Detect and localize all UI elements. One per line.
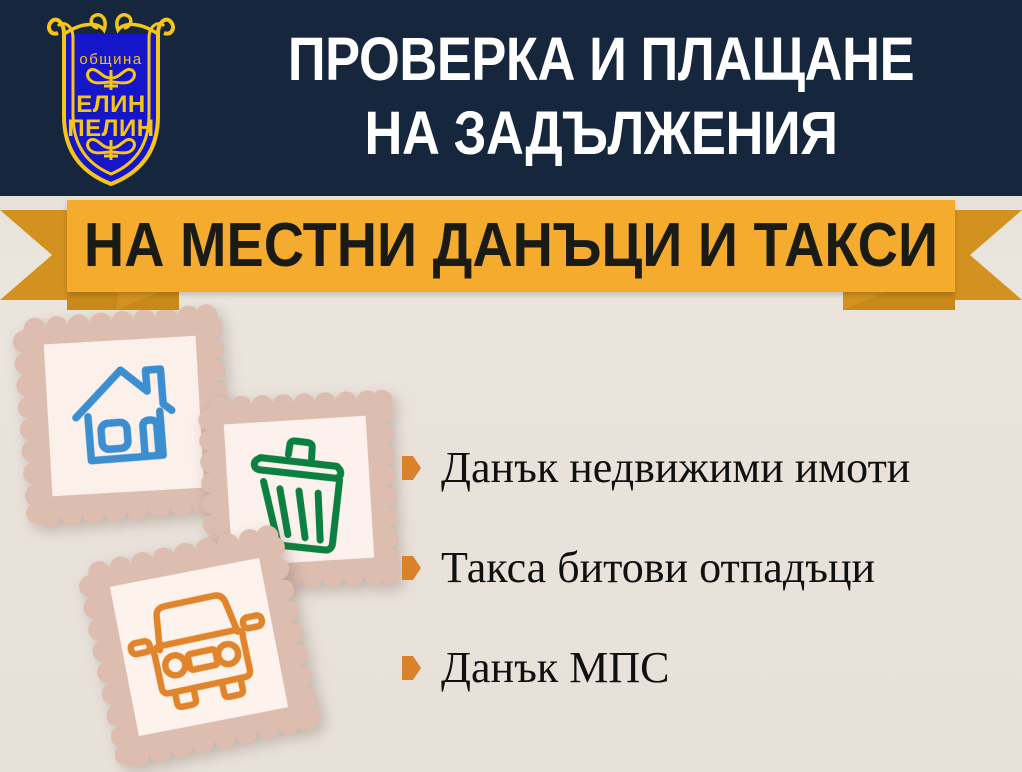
crest-line-pelin: ПЕЛИН [67,115,154,142]
crest-line-obshtina: община [79,51,142,68]
page-title-line-1: ПРОВЕРКА И ПЛАЩАНЕ [248,22,955,96]
arrow-bullet-icon [402,656,421,680]
ribbon-label: НА МЕСТНИ ДАНЪЦИ И ТАКСИ [111,200,910,292]
municipality-crest-logo: община ЕЛИН ПЕЛИН [42,8,180,188]
list-item[interactable]: Данък недвижими имоти [402,418,1012,518]
crest-line-elin: ЕЛИН [76,91,145,118]
list-item-label: Такса битови отпадъци [441,544,875,592]
stamp-card-car [72,520,326,772]
list-item[interactable]: Данък МПС [402,618,1012,718]
list-item-label: Данък МПС [441,644,669,692]
arrow-bullet-icon [402,556,421,580]
poster-root: община ЕЛИН ПЕЛИН ПРОВЕРКА И ПЛАЩАНЕ НА … [0,0,1022,772]
list-item[interactable]: Такса битови отпадъци [402,518,1012,618]
coat-of-arms-shield-icon: община ЕЛИН ПЕЛИН [42,8,180,188]
tax-type-list: Данък недвижими имоти Такса битови отпад… [402,418,1012,718]
page-title-line-2: НА ЗАДЪЛЖЕНИЯ [248,96,955,170]
list-item-label: Данък недвижими имоти [441,444,910,492]
subtitle-ribbon: НА МЕСТНИ ДАНЪЦИ И ТАКСИ [0,196,1022,310]
page-title: ПРОВЕРКА И ПЛАЩАНЕ НА ЗАДЪЛЖЕНИЯ [248,22,955,170]
arrow-bullet-icon [402,456,421,480]
